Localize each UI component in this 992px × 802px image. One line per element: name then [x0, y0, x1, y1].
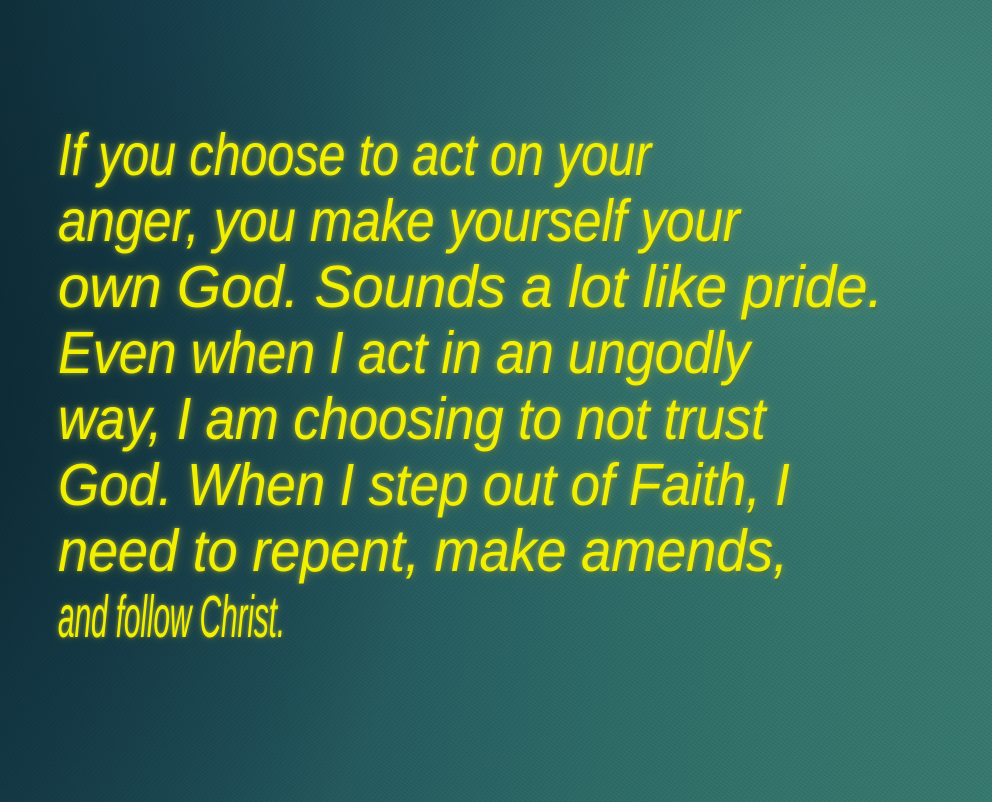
quote-line: need to repent, make amends,	[58, 518, 893, 584]
quote-line: way, I am choosing to not trust	[58, 386, 873, 452]
quote-line: anger, you make yourself your	[58, 188, 848, 254]
quote-line: and follow Christ.	[58, 584, 518, 650]
quote-slide: If you choose to act on your anger, you …	[0, 0, 992, 802]
quote-line: God. When I step out of Faith, I	[58, 452, 876, 518]
quote-line: If you choose to act on your	[58, 122, 808, 188]
quote-text-block: If you choose to act on your anger, you …	[58, 122, 964, 650]
quote-line: own God. Sounds a lot like pride.	[58, 254, 931, 320]
quote-line: Even when I act in an ungodly	[58, 320, 863, 386]
